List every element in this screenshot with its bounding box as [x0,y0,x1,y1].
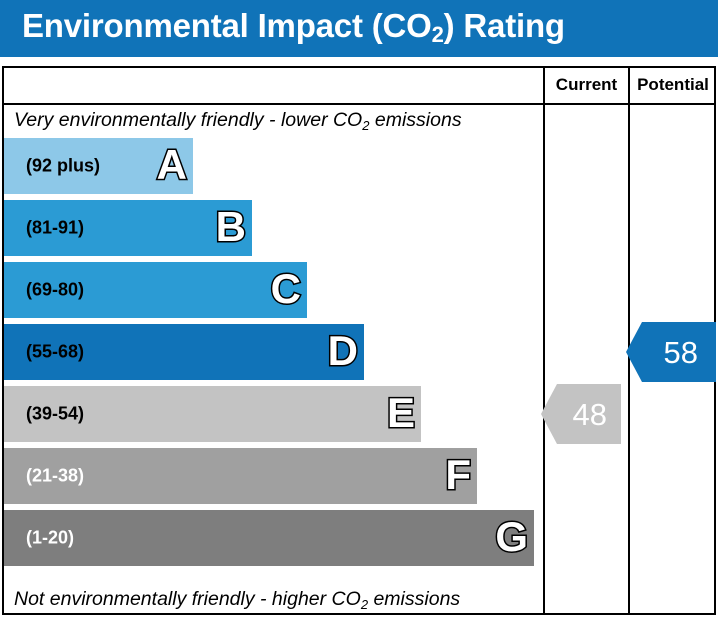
current-rating-value: 48 [573,399,607,430]
column-divider-potential [628,68,630,613]
potential-rating-value: 58 [664,337,698,368]
page-title-subscript: 2 [432,22,444,47]
band-letter-e: E [387,392,415,434]
caption-top: Very environmentally friendly - lower CO… [14,109,462,132]
band-letter-f: F [445,454,471,496]
band-letter-a: A [157,144,187,186]
current-rating-arrow: 48 [541,384,621,444]
band-range-c: (69-80) [26,280,84,301]
column-header-potential: Potential [630,75,716,95]
page-title: Environmental Impact (CO2) Rating [22,7,565,45]
chart-title-bar: Environmental Impact (CO2) Rating [0,0,718,57]
caption-bottom-subscript: 2 [361,597,368,612]
potential-rating-arrow: 58 [626,322,716,382]
caption-bottom-prefix: Not environmentally friendly - higher CO [14,588,361,610]
caption-top-prefix: Very environmentally friendly - lower CO [14,109,362,131]
band-range-b: (81-91) [26,218,84,239]
band-letter-b: B [216,206,246,248]
band-range-a: (92 plus) [26,156,100,177]
caption-top-suffix: emissions [369,109,461,131]
page-title-suffix: ) Rating [444,7,565,44]
band-letter-d: D [328,330,358,372]
column-header-current: Current [545,75,628,95]
band-letter-g: G [495,516,528,558]
rating-band-f: (21-38)F [4,448,477,504]
page-title-prefix: Environmental Impact (CO [22,7,432,44]
rating-band-b: (81-91)B [4,200,252,256]
caption-bottom-suffix: emissions [368,588,460,610]
band-range-g: (1-20) [26,528,74,549]
caption-top-subscript: 2 [362,118,369,133]
column-divider-current [543,68,545,613]
epc-environmental-impact-chart: Environmental Impact (CO2) Rating Curren… [0,0,718,619]
band-letter-c: C [271,268,301,310]
band-range-f: (21-38) [26,466,84,487]
header-divider [4,103,714,105]
rating-band-d: (55-68)D [4,324,364,380]
caption-bottom: Not environmentally friendly - higher CO… [14,588,460,611]
rating-band-c: (69-80)C [4,262,307,318]
rating-band-g: (1-20)G [4,510,534,566]
band-range-e: (39-54) [26,404,84,425]
band-range-d: (55-68) [26,342,84,363]
rating-band-e: (39-54)E [4,386,421,442]
rating-band-a: (92 plus)A [4,138,193,194]
